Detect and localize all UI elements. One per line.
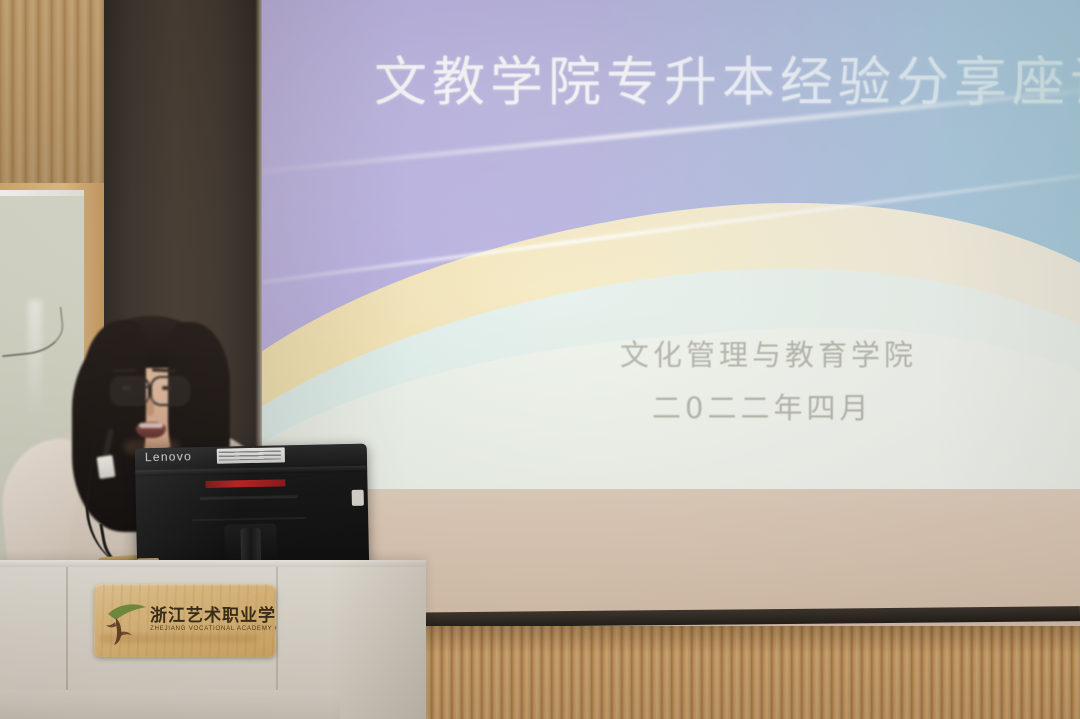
projection-screen: 文教学院专升本经验分享座谈会 文化管理与教育学院 二0二二年四月 (262, 0, 1080, 492)
lectern-plaque: 浙江艺术职业学院 ZHEJIANG VOCATIONAL ACADEMY OF … (94, 584, 276, 657)
photo-scene: 文教学院专升本经验分享座谈会 文化管理与教育学院 二0二二年四月 (0, 0, 1080, 719)
glasses-bridge-icon (146, 386, 152, 388)
lenovo-monitor: Lenovo (135, 444, 370, 577)
slide-subtitle-date: 二0二二年四月 (652, 385, 872, 427)
plaque-chinese-name: 浙江艺术职业学院 (150, 601, 276, 626)
speaker-teeth (139, 423, 163, 428)
speaker-eye-left (122, 386, 131, 390)
wall-panel-highlight (0, 190, 84, 196)
speaker-nose (146, 398, 154, 416)
plaque-english-name: ZHEJIANG VOCATIONAL ACADEMY OF ART (150, 625, 276, 632)
wood-slat-panel-left-shade (0, 0, 106, 190)
speaker-eye-right (162, 386, 171, 390)
lectern-lower-panel (0, 690, 340, 719)
projection-screen-image: 文教学院专升本经验分享座谈会 文化管理与教育学院 二0二二年四月 (262, 0, 1080, 492)
slide-title: 文教学院专升本经验分享座谈会 (374, 40, 1080, 116)
lectern-shadow (330, 560, 426, 719)
slide-subtitle-organization: 文化管理与教育学院 (620, 332, 917, 374)
dancer-bird-icon (104, 598, 148, 646)
monitor-gloss (135, 444, 370, 577)
glasses-lens-right-icon (150, 376, 190, 406)
glasses-lens-left-icon (110, 376, 150, 406)
